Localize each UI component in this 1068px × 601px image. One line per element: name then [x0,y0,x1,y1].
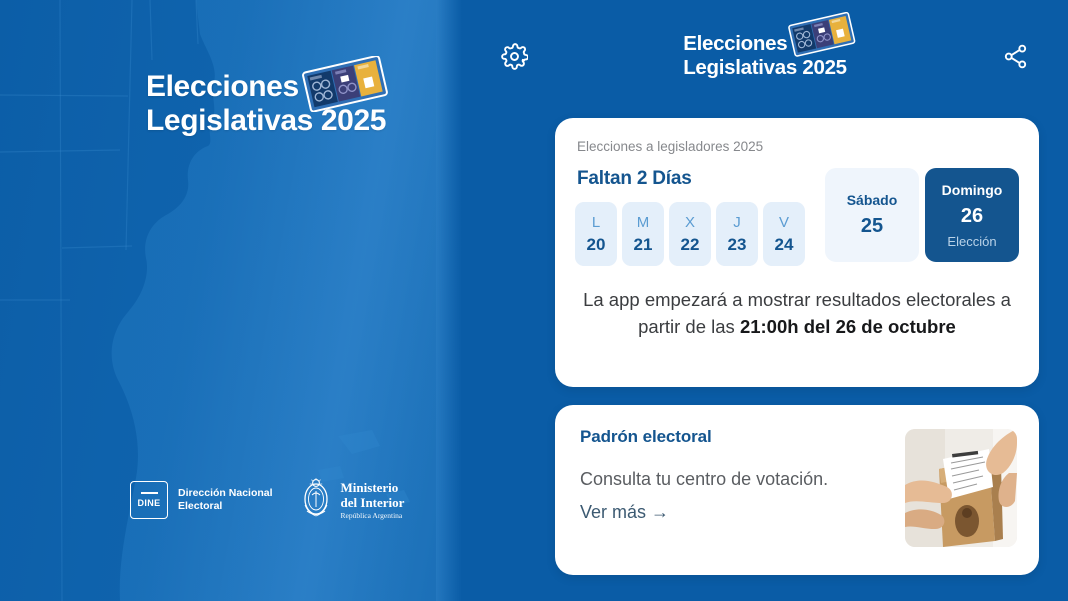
padron-text-block: Padrón electoral Consulta tu centro de v… [580,427,880,575]
sunday-tag: Elección [947,235,996,249]
countdown-title: Faltan 2 Días [577,168,825,190]
day-dow: V [779,215,789,231]
saturday-dow: Sábado [847,192,898,208]
dine-logo: DINE Dirección Nacional Electoral [130,481,273,519]
countdown-row: Faltan 2 Días L 20 M 21 X 22 [575,168,1019,266]
day-dow: M [637,215,650,231]
sunday-dow: Domingo [942,182,1003,198]
countdown-left: Faltan 2 Días L 20 M 21 X 22 [575,168,825,266]
day-cell[interactable]: L 20 [575,202,617,266]
countdown-eyebrow: Elecciones a legisladores 2025 [577,138,1019,156]
day-cell[interactable]: M 21 [622,202,664,266]
dine-name-line2: Electoral [178,500,273,513]
ministry-name: Ministerio del Interior República Argent… [341,480,405,521]
day-cell[interactable]: X 22 [669,202,711,266]
day-cell[interactable]: J 23 [716,202,758,266]
dine-dash [141,492,158,494]
countdown-card: Elecciones a legisladores 2025 Faltan 2 … [555,118,1039,387]
day-cell-sunday-election[interactable]: Domingo 26 Elección [925,168,1019,262]
week-strip: L 20 M 21 X 22 J 23 [575,202,825,266]
padron-card[interactable]: Padrón electoral Consulta tu centro de v… [555,405,1039,575]
appbar-logo: Elecciones Legislativas 2025 [683,32,847,80]
sunday-num: 26 [961,205,983,228]
day-cell-saturday[interactable]: Sábado 25 [825,168,919,262]
gear-icon [501,43,528,70]
day-num: 23 [728,236,747,254]
day-num: 22 [681,236,700,254]
countdown-note: La app empezará a mostrar resultados ele… [575,286,1019,340]
splash-edge-gradient [436,0,462,601]
argentina-coat-of-arms-icon [299,477,333,523]
dine-mark-label: DINE [137,498,160,508]
padron-description: Consulta tu centro de votación. [580,466,880,492]
splash-logo: Elecciones Legislativas 2025 [146,70,426,138]
day-num: 21 [634,236,653,254]
day-dow: J [733,215,741,231]
padron-see-more-link[interactable]: Ver más → [580,500,880,524]
ballot-card-icon [785,12,857,57]
app-window: Elecciones Legislativas 2025 DINE Direcc… [0,0,1068,601]
day-cell[interactable]: V 24 [763,202,805,266]
day-dow: X [685,215,695,231]
splash-panel: Elecciones Legislativas 2025 DINE Direcc… [0,0,462,601]
dine-mark-icon: DINE [130,481,168,519]
ballot-box-photo [905,429,1017,547]
day-dow: L [592,215,600,231]
padron-title: Padrón electoral [580,427,880,447]
share-button[interactable] [994,34,1038,78]
day-num: 20 [587,236,606,254]
dine-name-line1: Dirección Nacional [178,487,273,500]
ministry-line1: Ministerio [341,480,405,495]
saturday-num: 25 [861,215,883,238]
app-panel: Elecciones Legislativas 2025 Elecciones … [462,0,1068,601]
countdown-note-highlight: 21:00h del 26 de octubre [740,316,956,337]
share-icon [1002,43,1029,70]
ministry-subtitle: República Argentina [341,510,405,521]
appbar-logo-line2: Legislativas 2025 [683,56,847,80]
settings-button[interactable] [492,34,536,78]
ballot-card-icon [298,56,390,112]
splash-footer: DINE Dirección Nacional Electoral [130,477,404,523]
dine-name: Dirección Nacional Electoral [178,487,273,513]
day-num: 24 [775,236,794,254]
ministry-logo: Ministerio del Interior República Argent… [299,477,405,523]
app-bar: Elecciones Legislativas 2025 [462,0,1068,112]
ministry-line2: del Interior [341,495,405,510]
